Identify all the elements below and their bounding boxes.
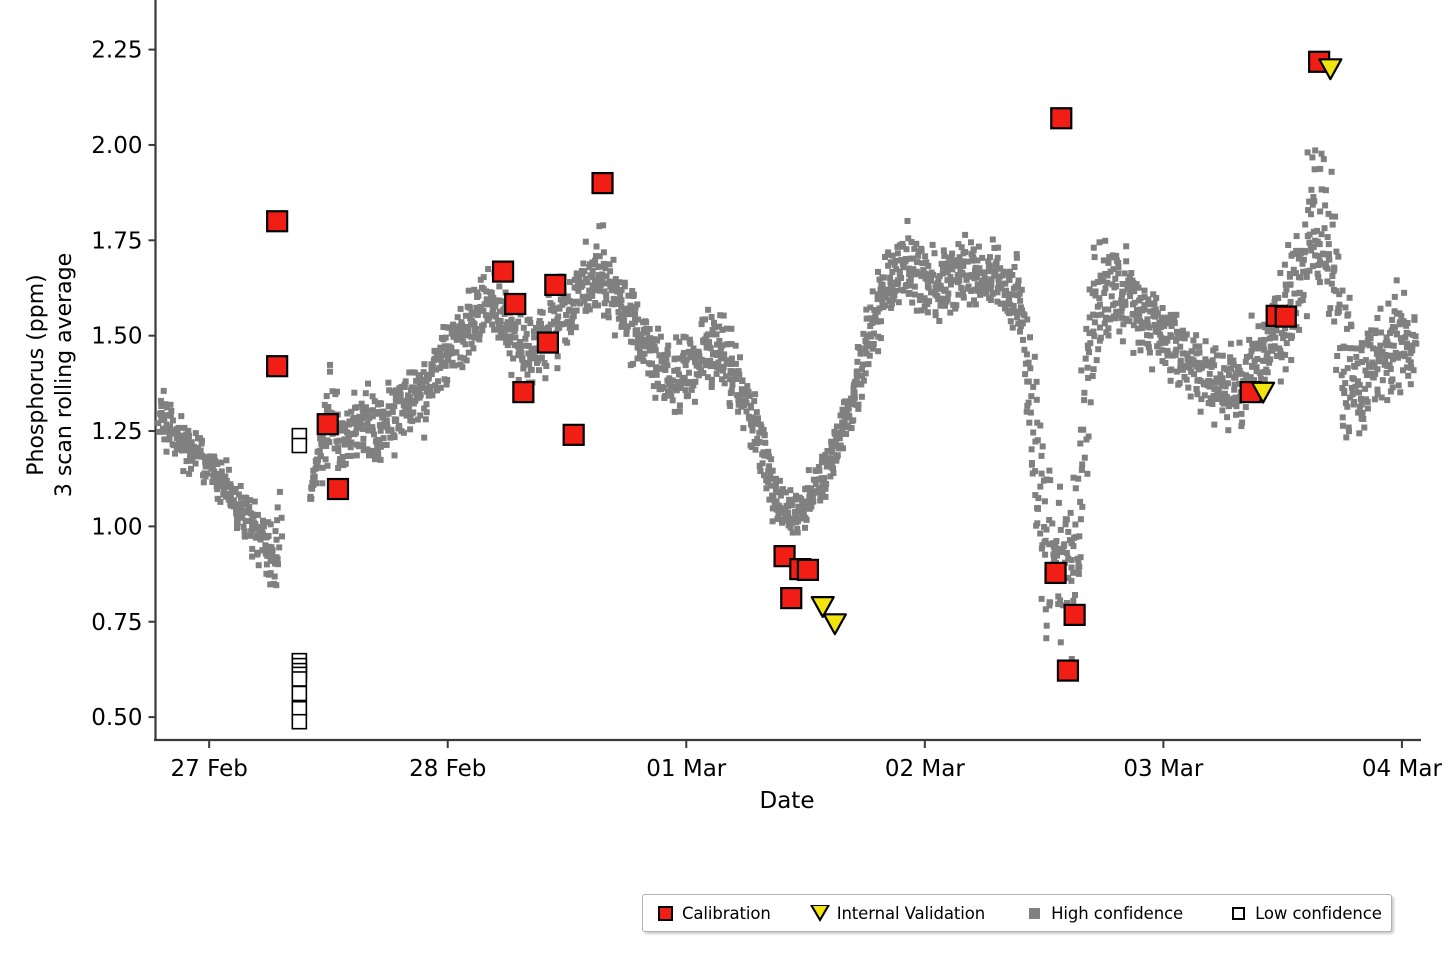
calibration-marker xyxy=(267,211,287,231)
legend-label-low-confidence: Low confidence xyxy=(1251,904,1382,923)
x-tick-label: 03 Mar xyxy=(1123,756,1204,782)
x-tick-label: 04 Mar xyxy=(1362,756,1443,782)
calibration-marker xyxy=(513,382,533,402)
red-square-marker-icon xyxy=(652,906,678,921)
y-tick-label: 0.75 xyxy=(91,610,142,636)
low-confidence-marker xyxy=(292,702,306,716)
calibration-marker xyxy=(538,333,558,353)
calibration-marker xyxy=(318,414,338,434)
low-confidence-marker xyxy=(292,715,306,729)
chart-legend: Calibration Internal Validation High con… xyxy=(642,894,1392,932)
calibration-marker xyxy=(1058,661,1078,681)
legend-item-high-confidence[interactable]: High confidence xyxy=(1021,895,1183,931)
y-tick-label: 0.50 xyxy=(91,705,142,731)
calibration-marker xyxy=(1046,563,1066,583)
gray-square-marker-icon xyxy=(1021,908,1047,919)
calibration-marker xyxy=(505,294,525,314)
chart-figure: 0.500.751.001.251.501.752.002.25 27 Feb2… xyxy=(0,0,1450,963)
calibration-marker xyxy=(1065,605,1085,625)
y-tick-label: 1.50 xyxy=(91,324,142,350)
legend-item-calibration[interactable]: Calibration xyxy=(652,895,771,931)
legend-label-calibration: Calibration xyxy=(678,904,771,923)
x-axis-label: Date xyxy=(760,788,815,814)
low-confidence-points xyxy=(292,429,306,729)
legend-item-internal-validation[interactable]: Internal Validation xyxy=(807,895,985,931)
y-tick-label: 1.25 xyxy=(91,419,142,445)
yellow-triangle-down-marker-icon xyxy=(807,905,833,922)
calibration-marker xyxy=(328,479,348,499)
x-tick-label: 27 Feb xyxy=(171,756,248,782)
calibration-marker xyxy=(267,356,287,376)
x-axis-ticks: 27 Feb28 Feb01 Mar02 Mar03 Mar04 Mar xyxy=(171,740,1443,782)
open-square-marker-icon xyxy=(1225,907,1251,920)
calibration-marker xyxy=(798,560,818,580)
y-tick-label: 2.00 xyxy=(91,133,142,159)
calibration-marker xyxy=(593,173,613,193)
calibration-marker xyxy=(1276,307,1296,327)
low-confidence-marker xyxy=(292,439,306,453)
y-tick-label: 2.25 xyxy=(91,38,142,64)
low-confidence-marker xyxy=(292,686,306,700)
calibration-marker xyxy=(545,275,565,295)
y-axis-ticks: 0.500.751.001.251.501.752.002.25 xyxy=(91,38,155,732)
legend-label-high-confidence: High confidence xyxy=(1047,904,1183,923)
legend-label-internal-validation: Internal Validation xyxy=(833,904,985,923)
legend-item-low-confidence[interactable]: Low confidence xyxy=(1225,895,1382,931)
calibration-marker xyxy=(1051,108,1071,128)
calibration-marker xyxy=(493,262,513,282)
x-tick-label: 28 Feb xyxy=(409,756,486,782)
low-confidence-marker xyxy=(292,672,306,686)
calibration-marker xyxy=(564,425,584,445)
y-axis-label-line1: Phosphorus (ppm) xyxy=(24,274,49,475)
scatter-plot: 0.500.751.001.251.501.752.002.25 27 Feb2… xyxy=(0,0,1450,963)
x-tick-label: 01 Mar xyxy=(646,756,727,782)
y-tick-label: 1.00 xyxy=(91,514,142,540)
y-tick-label: 1.75 xyxy=(91,228,142,254)
y-axis-label-line2: 3 scan rolling average xyxy=(52,253,77,497)
x-tick-label: 02 Mar xyxy=(885,756,966,782)
calibration-marker xyxy=(781,588,801,608)
internal-validation-marker xyxy=(824,614,846,634)
high-confidence-points xyxy=(155,147,1419,662)
